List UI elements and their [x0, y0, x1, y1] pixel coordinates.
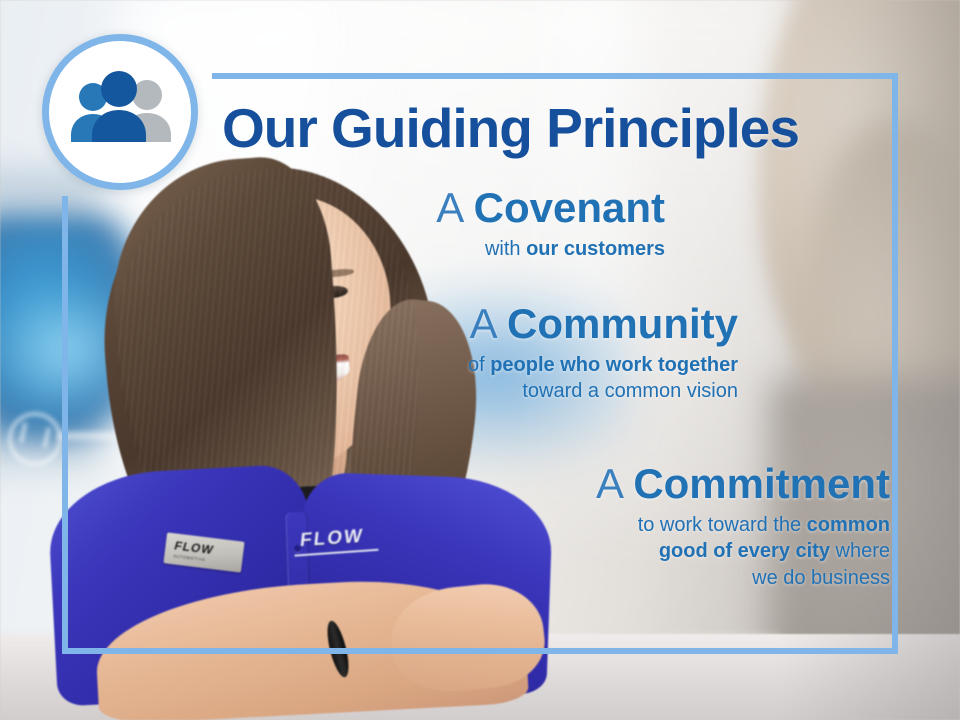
principle-lead-word: A — [436, 184, 462, 231]
emphasis-text: common — [807, 514, 890, 536]
emphasis-text: our customers — [526, 238, 665, 260]
principle-keyword-covenant: Covenant — [474, 184, 665, 231]
page-title: Our Guiding Principles — [222, 96, 799, 160]
plain-text: where — [830, 540, 890, 562]
principle-block-covenant: A Covenant with our customers — [436, 186, 665, 262]
plain-text: of — [468, 354, 490, 376]
frame-border-left — [62, 196, 68, 654]
principle-subtext-covenant: with our customers — [436, 236, 665, 262]
frame-border-bottom — [62, 648, 898, 654]
flow-chest-logo: FLOW — [299, 526, 365, 553]
guiding-principles-graphic: FLOW FLOW AUTOMOTIVE Our Guiding P — [0, 0, 960, 720]
principle-keyword-community: Community — [507, 300, 738, 347]
plain-text: to work toward the — [638, 514, 807, 536]
plain-text: toward a common vision — [522, 380, 738, 402]
principle-lead-word: A — [470, 300, 496, 347]
right-shadow-gradient — [780, 0, 960, 720]
principle-keyword-commitment: Commitment — [633, 460, 890, 507]
principle-subtext-commitment: to work toward the commongood of every c… — [596, 512, 890, 591]
principle-heading-community: A Community — [468, 302, 738, 346]
frame-border-top — [212, 73, 898, 79]
people-group-icon — [62, 69, 178, 155]
principle-block-commitment: A Commitment to work toward the commongo… — [596, 462, 890, 591]
principle-lead-word: A — [596, 460, 622, 507]
principle-heading-commitment: A Commitment — [596, 462, 890, 506]
plain-text: with — [485, 238, 526, 260]
principle-heading-covenant: A Covenant — [436, 186, 665, 230]
principle-subtext-community: of people who work togethertoward a comm… — [468, 352, 738, 405]
plain-text: we do business — [752, 567, 890, 589]
emphasis-text: good of every city — [659, 540, 830, 562]
emphasis-text: people who work together — [490, 354, 738, 376]
principle-block-community: A Community of people who work togethert… — [468, 302, 738, 405]
people-group-icon-badge — [42, 34, 198, 190]
frame-border-right — [892, 73, 898, 654]
